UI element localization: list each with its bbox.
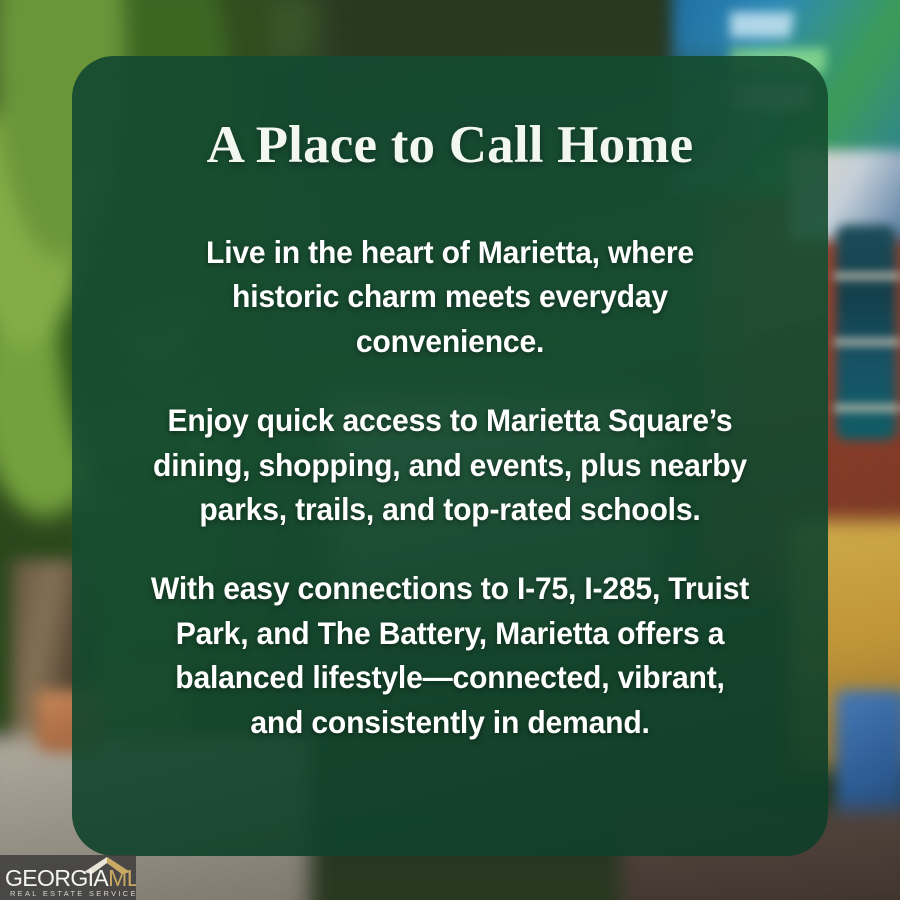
logo-tagline: REAL ESTATE SERVICES	[10, 889, 136, 898]
paragraph-location: Live in the heart of Marietta, where his…	[139, 230, 762, 364]
paragraph-connectivity: With easy connections to I-75, I-285, Tr…	[139, 566, 762, 745]
logo-name-accent: MLS	[108, 865, 136, 891]
page-title: A Place to Call Home	[124, 118, 776, 174]
marketing-graphic: A Place to Call Home Live in the heart o…	[0, 0, 900, 900]
body-copy: Live in the heart of Marietta, where his…	[124, 230, 776, 745]
content-card: A Place to Call Home Live in the heart o…	[72, 56, 828, 856]
logo-wordmark: GEORGIAMLS	[5, 867, 136, 890]
logo-name-primary: GEORGIA	[5, 865, 108, 891]
georgia-mls-logo: GEORGIAMLS REAL ESTATE SERVICES	[0, 855, 136, 900]
paragraph-amenities: Enjoy quick access to Marietta Square’s …	[139, 398, 762, 532]
